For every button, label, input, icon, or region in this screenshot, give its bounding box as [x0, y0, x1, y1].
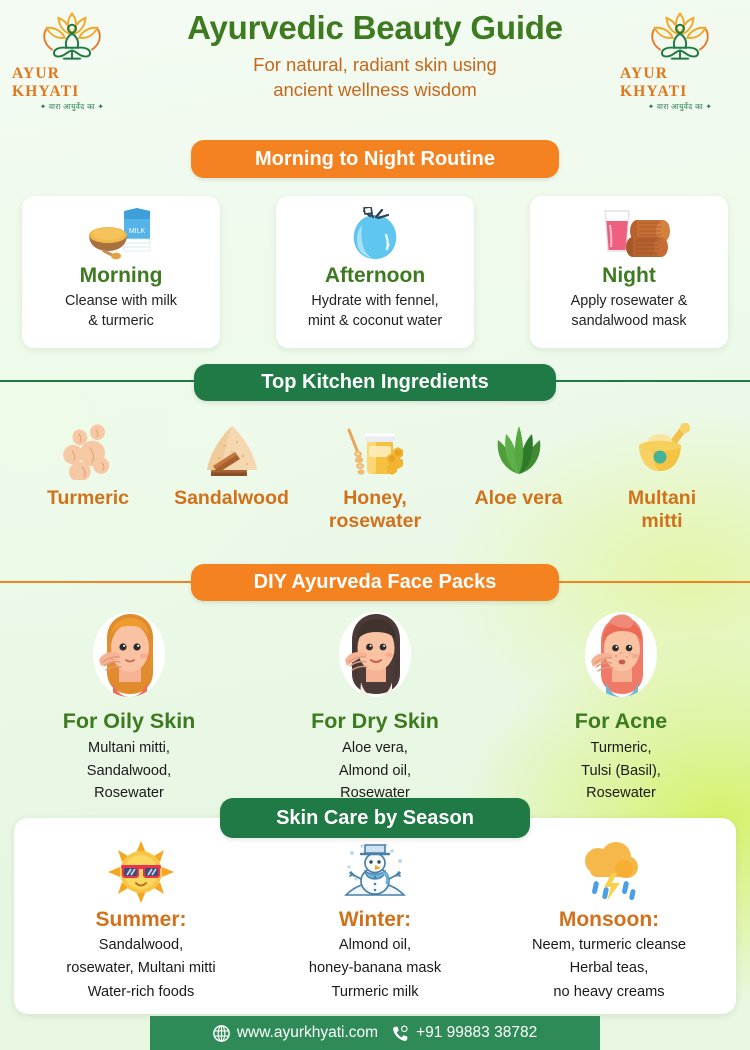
avatar: [93, 612, 165, 697]
footer-website[interactable]: www.ayurkhyati.com: [213, 1024, 378, 1042]
season-title: Summer:: [95, 908, 186, 932]
facepack-oily-skin: For Oily Skin Multani mitti, Sandalwood,…: [14, 612, 244, 805]
ingredient-honey-rosewater: Honey, rosewater: [305, 418, 445, 533]
aloe-vera-plant-icon: [488, 418, 550, 480]
lotus-yoga-figure-icon: [641, 8, 719, 64]
banner-morning-to-night-routine: Morning to Night Routine: [191, 140, 559, 178]
season-title: Winter:: [339, 908, 411, 932]
routine-desc: Cleanse with milk & turmeric: [57, 292, 185, 331]
routine-card-row: MILK Morning Cleanse with milk: [22, 196, 728, 348]
season-tips: Neem, turmeric cleanse Herbal teas, no h…: [532, 934, 686, 1004]
snowman-icon: [340, 840, 410, 904]
phone-icon: [392, 1025, 409, 1042]
globe-icon: [213, 1025, 230, 1042]
svg-text:MILK: MILK: [129, 228, 146, 235]
ingredient-label: Sandalwood: [174, 487, 289, 510]
infographic-page: AYUR KHYATI ✦ वारा आयुर्वेद का ✦ Ayurved…: [0, 0, 750, 1050]
season-title: Monsoon:: [559, 908, 659, 932]
page-subtitle: For natural, radiant skin using ancient …: [140, 53, 610, 102]
facepack-ingredients: Turmeric, Tulsi (Basil), Rosewater: [581, 737, 661, 805]
sandalwood-logs-icon: [201, 418, 263, 480]
facepack-title: For Acne: [575, 709, 667, 734]
header-text-block: Ayurvedic Beauty Guide For natural, radi…: [140, 10, 610, 102]
honey-jar-icon: [343, 418, 407, 480]
rain-cloud-lightning-icon: [574, 840, 644, 904]
turmeric-bowl-milk-icon: MILK: [80, 206, 162, 262]
facepack-row: For Oily Skin Multani mitti, Sandalwood,…: [14, 612, 736, 805]
banner-skin-care-by-season: Skin Care by Season: [220, 798, 530, 838]
logo-subtitle: ✦ वारा आयुर्वेद का ✦: [40, 102, 104, 112]
logo-name: AYUR KHYATI: [620, 65, 740, 101]
routine-title: Morning: [80, 264, 163, 288]
routine-title: Night: [602, 264, 656, 288]
lotus-yoga-figure-icon: [33, 8, 111, 64]
avatar: [585, 612, 657, 697]
ingredient-multani-mitti: Multani mitti: [592, 418, 732, 533]
website-text: www.ayurkhyati.com: [237, 1024, 378, 1042]
season-card-container: Summer: Sandalwood, rosewater, Multani m…: [14, 818, 736, 1014]
facepack-acne: For Acne Turmeric, Tulsi (Basil), Rosewa…: [506, 612, 736, 805]
season-winter: Winter: Almond oil, honey-banana mask Tu…: [258, 840, 492, 1014]
facepack-ingredients: Multani mitti, Sandalwood, Rosewater: [87, 737, 171, 805]
facepack-title: For Dry Skin: [311, 709, 439, 734]
facepack-dry-skin: For Dry Skin Aloe vera, Almond oil, Rose…: [260, 612, 490, 805]
routine-card-morning: MILK Morning Cleanse with milk: [22, 196, 220, 348]
ingredient-turmeric: Turmeric: [18, 418, 158, 510]
season-monsoon: Monsoon: Neem, turmeric cleanse Herbal t…: [492, 840, 726, 1014]
logo-left: AYUR KHYATI ✦ वारा आयुर्वेद का ✦: [12, 8, 132, 112]
routine-title: Afternoon: [325, 264, 425, 288]
phone-text: +91 99883 38782: [416, 1024, 537, 1042]
sun-sunglasses-icon: [108, 840, 174, 904]
page-title: Ayurvedic Beauty Guide: [140, 10, 610, 47]
routine-desc: Hydrate with fennel, mint & coconut wate…: [300, 292, 450, 331]
routine-card-afternoon: Afternoon Hydrate with fennel, mint & co…: [276, 196, 474, 348]
season-tips: Almond oil, honey-banana mask Turmeric m…: [309, 934, 441, 1004]
mortar-pestle-icon: [631, 418, 693, 480]
season-summer: Summer: Sandalwood, rosewater, Multani m…: [24, 840, 258, 1014]
ingredient-label: Turmeric: [47, 487, 129, 510]
banner-diy-ayurveda-face-packs: DIY Ayurveda Face Packs: [191, 564, 559, 601]
routine-desc: Apply rosewater & sandalwood mask: [563, 292, 696, 331]
rosewater-sandalwood-icon: [587, 206, 671, 262]
ingredient-label: Aloe vera: [475, 487, 563, 510]
facepack-title: For Oily Skin: [63, 709, 196, 734]
header: AYUR KHYATI ✦ वारा आयुर्वेद का ✦ Ayurved…: [0, 0, 750, 128]
season-tips: Sandalwood, rosewater, Multani mitti Wat…: [66, 934, 215, 1004]
ingredient-label: Multani mitti: [628, 487, 696, 533]
ingredient-row: Turmeric: [18, 418, 732, 533]
turmeric-root-icon: [57, 418, 119, 480]
woman-brunette-face-icon: [339, 612, 411, 697]
logo-right: AYUR KHYATI ✦ वारा आयुर्वेद का ✦: [620, 8, 740, 112]
logo-subtitle: ✦ वारा आयुर्वेद का ✦: [648, 102, 712, 112]
ingredient-label: Honey, rosewater: [329, 487, 421, 533]
coconut-water-icon: [342, 206, 408, 262]
ingredient-sandalwood: Sandalwood: [162, 418, 302, 510]
ingredient-aloe-vera: Aloe vera: [449, 418, 589, 510]
footer-contact-bar: www.ayurkhyati.com +91 99883 38782: [150, 1016, 600, 1050]
woman-blonde-face-icon: [93, 612, 165, 697]
logo-name: AYUR KHYATI: [12, 65, 132, 101]
woman-redhead-face-icon: [585, 612, 657, 697]
avatar: [339, 612, 411, 697]
banner-top-kitchen-ingredients: Top Kitchen Ingredients: [194, 364, 556, 401]
facepack-ingredients: Aloe vera, Almond oil, Rosewater: [339, 737, 411, 805]
routine-card-night: Night Apply rosewater & sandalwood mask: [530, 196, 728, 348]
footer-phone[interactable]: +91 99883 38782: [392, 1024, 537, 1042]
